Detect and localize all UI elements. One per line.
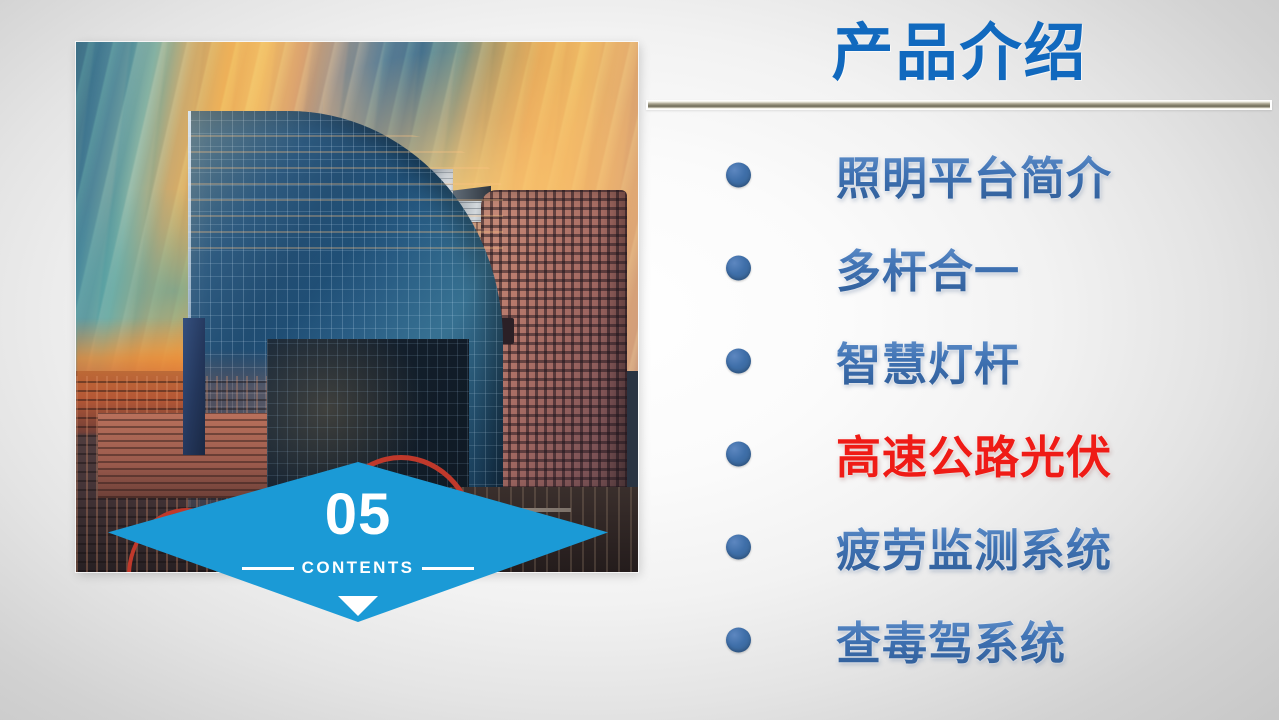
- title-divider: [646, 100, 1272, 110]
- bullet-dot-icon: [726, 627, 751, 652]
- list-item[interactable]: 照明平台简介: [640, 128, 1279, 221]
- city-skyline-photo: [76, 42, 638, 572]
- bullet-dot-icon: [726, 441, 751, 466]
- blue-spire-tower: [183, 318, 205, 456]
- list-item[interactable]: 多杆合一: [640, 221, 1279, 314]
- contents-list: 照明平台简介 多杆合一 智慧灯杆 高速公路光伏 疲劳监测系统 查毒驾系统: [640, 128, 1279, 686]
- triangle-down-icon: [338, 596, 378, 616]
- list-item[interactable]: 查毒驾系统: [640, 593, 1279, 686]
- divider-bar: [648, 101, 1270, 109]
- photo-content: [76, 42, 638, 572]
- contents-item-label-4: 高速公路光伏: [836, 421, 1112, 486]
- slide-canvas: 05 CONTENTS 产品介绍 照明平台简介 多杆合一 智慧灯杆: [0, 0, 1279, 720]
- contents-item-label-1: 照明平台简介: [836, 142, 1112, 207]
- page-title: 产品介绍: [640, 2, 1279, 92]
- bullet-dot-icon: [726, 534, 751, 559]
- right-panel: 产品介绍 照明平台简介 多杆合一 智慧灯杆 高速公路光伏: [640, 0, 1279, 720]
- bullet-dot-icon: [726, 348, 751, 373]
- contents-item-label-3: 智慧灯杆: [836, 328, 1020, 393]
- bullet-dot-icon: [726, 255, 751, 280]
- list-item[interactable]: 疲劳监测系统: [640, 500, 1279, 593]
- list-item[interactable]: 智慧灯杆: [640, 314, 1279, 407]
- contents-item-label-6: 查毒驾系统: [836, 607, 1066, 672]
- contents-item-label-5: 疲劳监测系统: [836, 514, 1112, 579]
- list-item[interactable]: 高速公路光伏: [640, 407, 1279, 500]
- contents-item-label-2: 多杆合一: [836, 235, 1020, 300]
- bullet-dot-icon: [726, 162, 751, 187]
